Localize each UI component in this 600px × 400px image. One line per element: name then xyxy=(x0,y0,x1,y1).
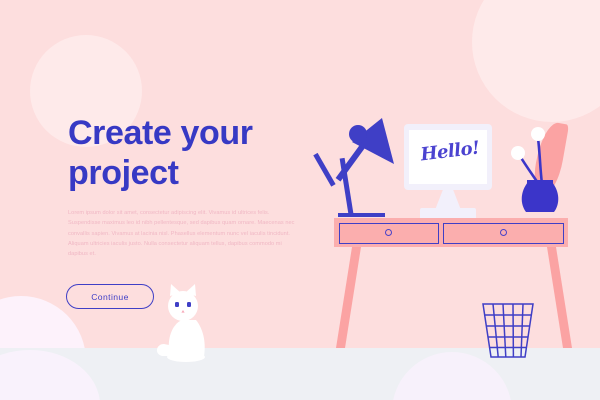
desk-lamp-icon xyxy=(322,112,402,218)
flower-vase-icon xyxy=(510,122,570,218)
desk-lamp-base xyxy=(338,213,385,217)
continue-button[interactable]: Continue xyxy=(66,284,154,309)
drawer-knob-right-icon[interactable] xyxy=(500,229,507,236)
drawer-knob-left-icon[interactable] xyxy=(385,229,392,236)
page-title: Create your project xyxy=(68,113,318,193)
cat-icon xyxy=(152,282,222,364)
body-paragraph: Lorem ipsum dolor sit amet, consectetur … xyxy=(68,208,300,259)
wire-wastebasket-icon xyxy=(480,300,536,362)
illustration-canvas: Create your project Lorem ipsum dolor si… xyxy=(0,0,600,400)
